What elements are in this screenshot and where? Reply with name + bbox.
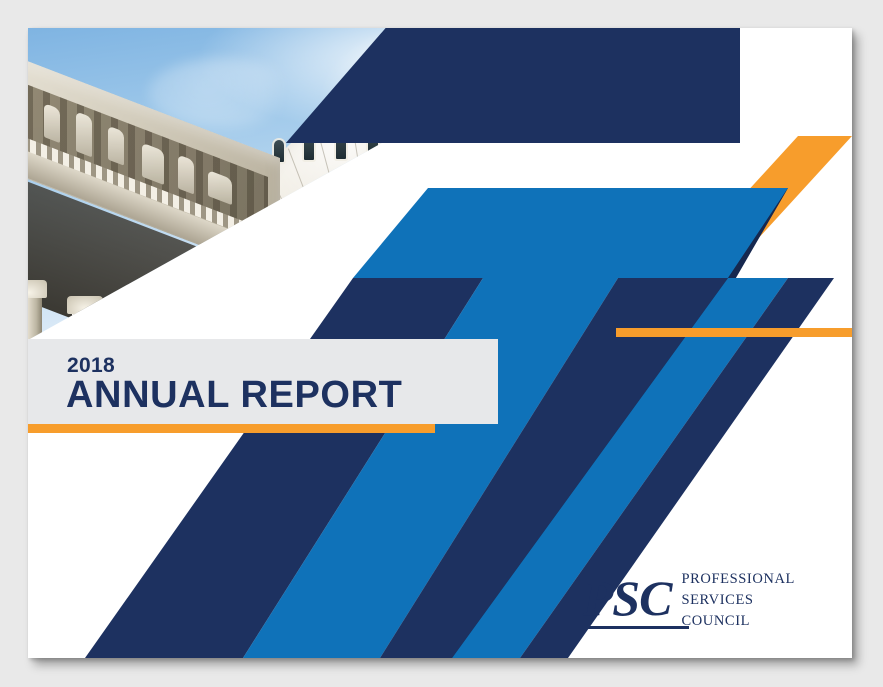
corinthian-columns bbox=[28, 224, 308, 340]
logo-line-services: SERVICES bbox=[681, 590, 795, 611]
logo-line-council: COUNCIL bbox=[681, 611, 795, 632]
orange-rule-right bbox=[616, 328, 852, 337]
psc-logo-wordmark: PROFESSIONAL SERVICES COUNCIL bbox=[681, 569, 795, 636]
orange-diagonal-stripe bbox=[658, 136, 852, 289]
screenshot-canvas: 2018 ANNUAL REPORT PSC PROFESSIONAL SERV… bbox=[0, 0, 883, 687]
orange-rule-under-title bbox=[28, 424, 435, 433]
psc-logo: PSC PROFESSIONAL SERVICES COUNCIL bbox=[583, 569, 795, 636]
logo-line-professional: PROFESSIONAL bbox=[681, 569, 795, 590]
report-cover-page: 2018 ANNUAL REPORT PSC PROFESSIONAL SERV… bbox=[28, 28, 852, 658]
dome-colonnade bbox=[226, 270, 570, 340]
dome-drum bbox=[224, 260, 572, 340]
chevron-navy-wide-stroke bbox=[85, 278, 483, 658]
title-band: 2018 ANNUAL REPORT bbox=[28, 339, 498, 424]
report-year: 2018 bbox=[67, 355, 115, 376]
page-title: ANNUAL REPORT bbox=[66, 376, 402, 414]
chevron-blue-mid-band bbox=[243, 278, 618, 658]
psc-logo-mark: PSC bbox=[583, 573, 672, 631]
